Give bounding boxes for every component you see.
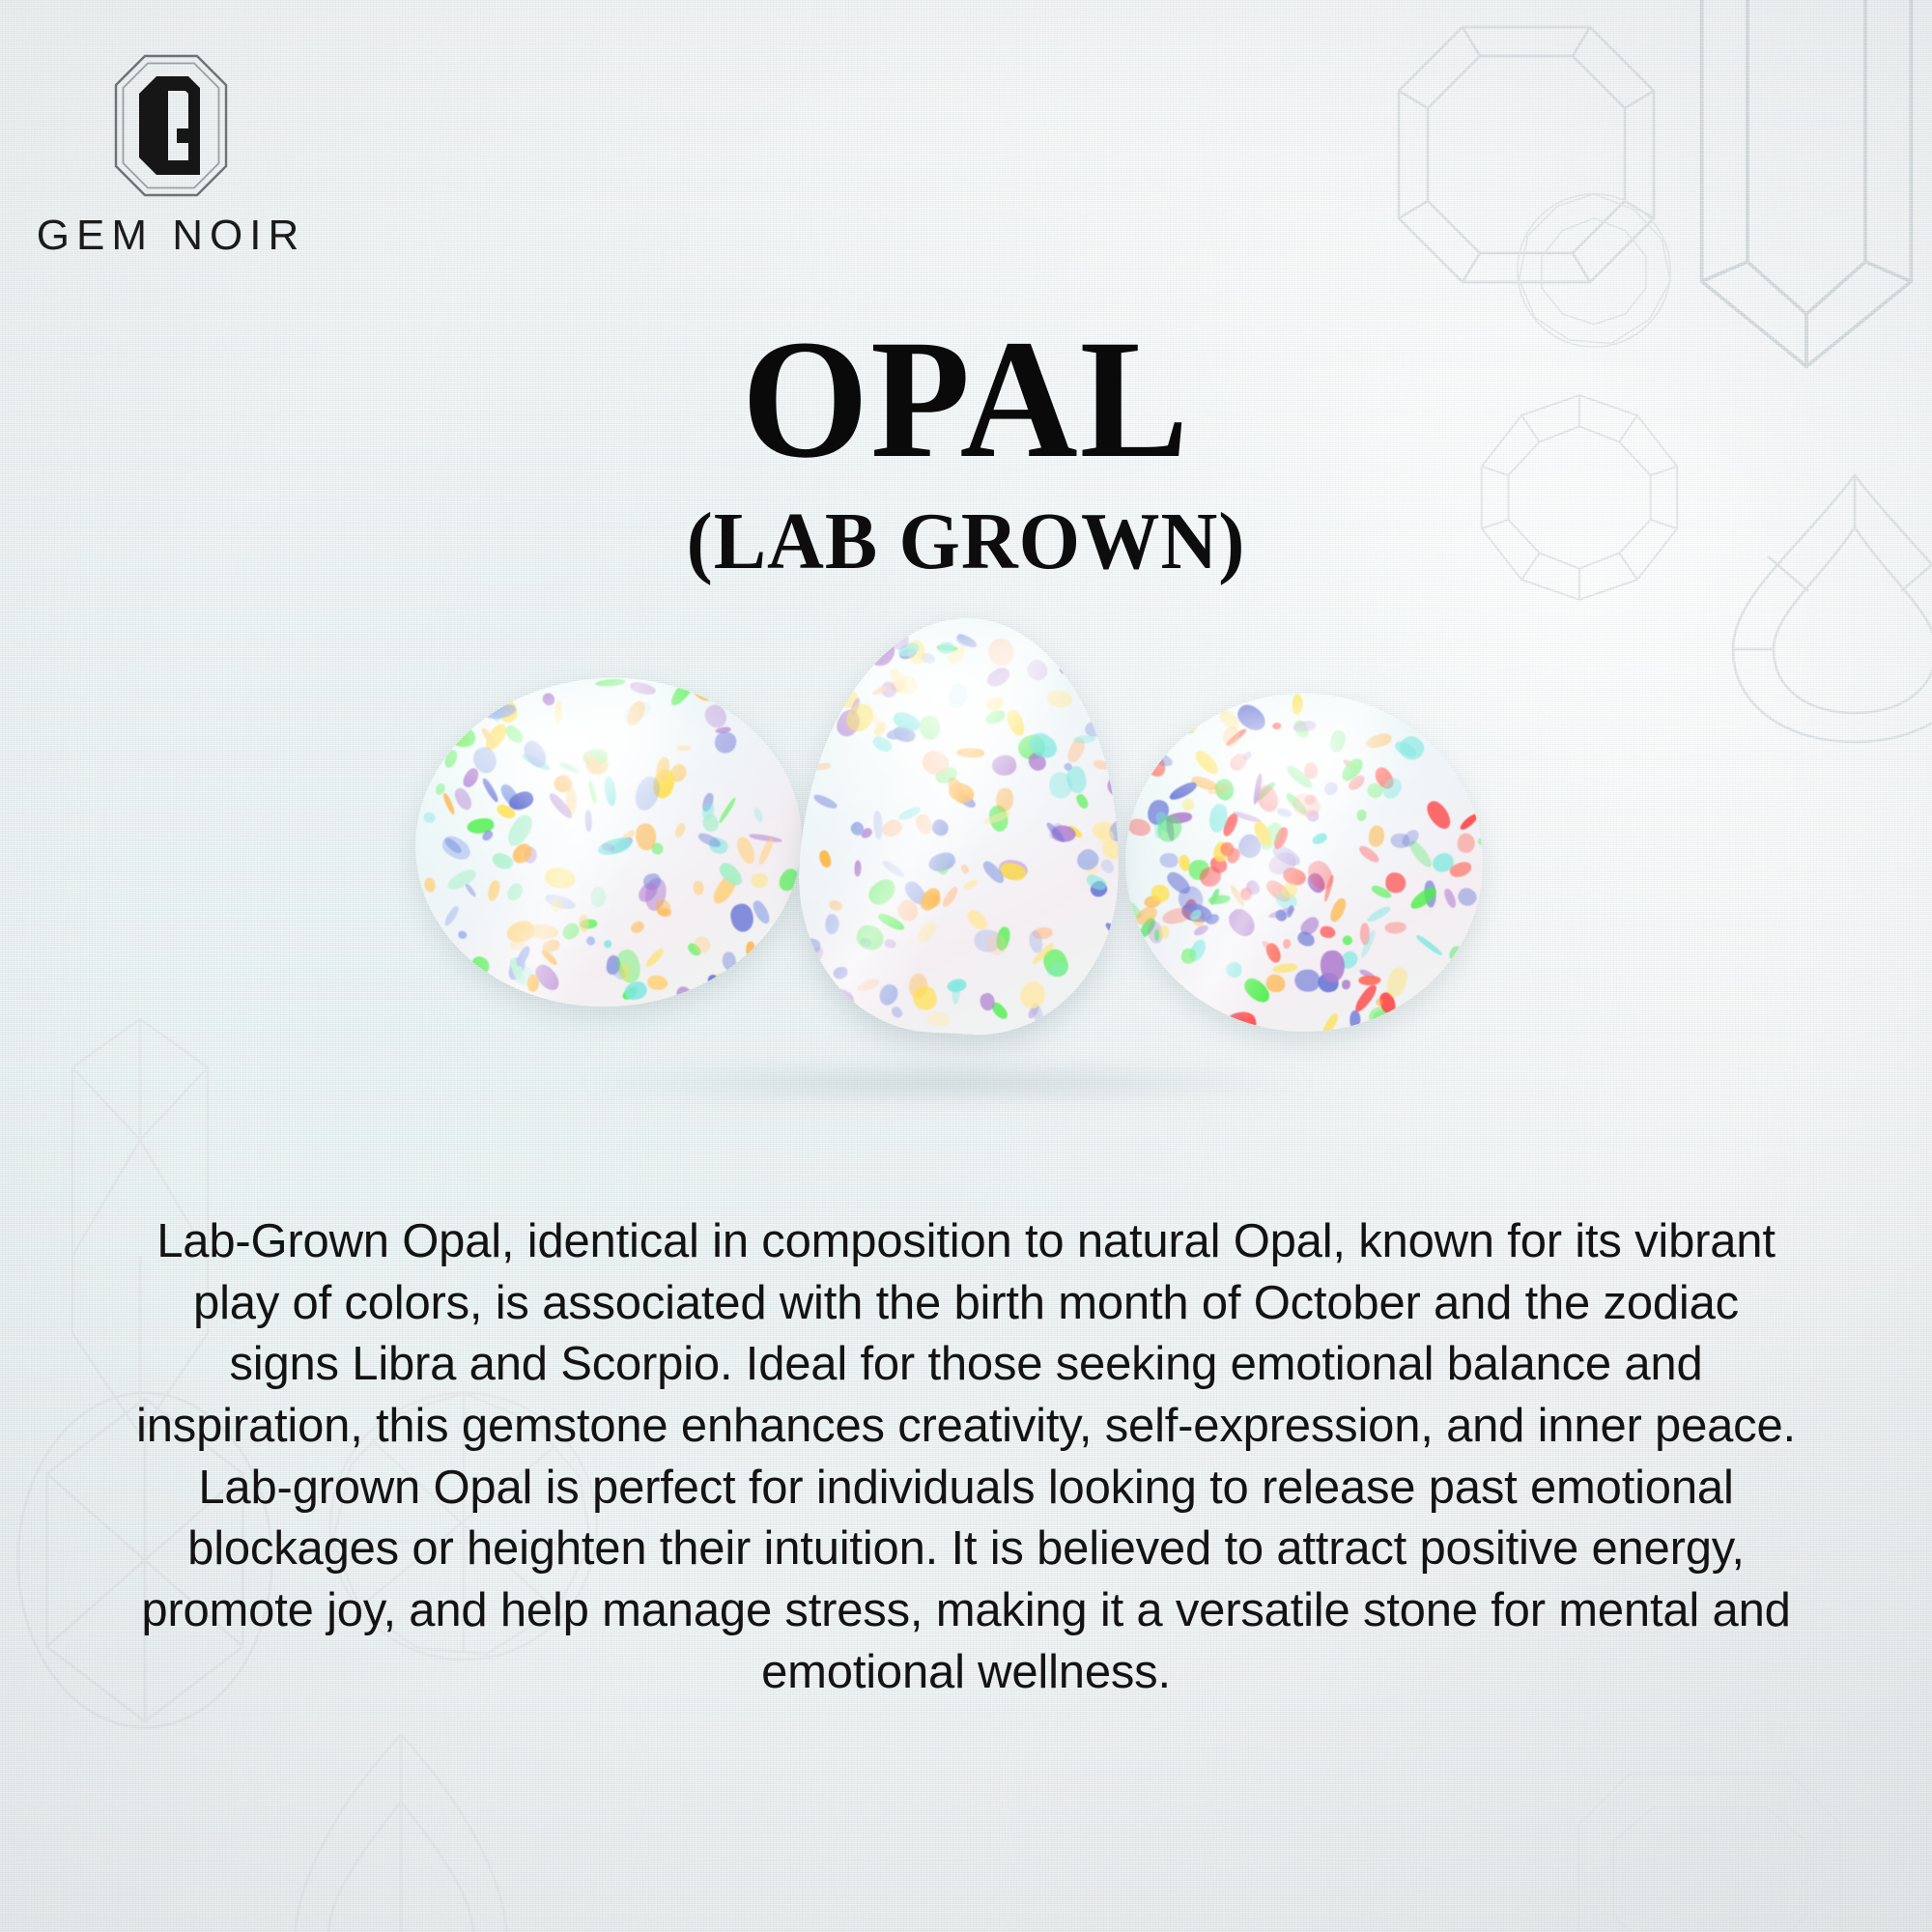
brand-logo[interactable]: GEM NOIR — [31, 53, 311, 260]
opal-sheen — [791, 611, 1131, 1042]
brand-name: GEM NOIR — [31, 212, 311, 260]
octagon-monogram-gn-icon — [113, 53, 229, 198]
title-block: OPAL (LAB GROWN) — [0, 319, 1932, 584]
page-title: OPAL — [39, 319, 1893, 482]
description-text: Lab-Grown Opal, identical in composition… — [135, 1211, 1797, 1704]
watermark-emerald-cut-bottom-icon — [1565, 1768, 1855, 1932]
watermark-marquise-gem-icon — [261, 1729, 541, 1932]
watermark-emerald-cut-octagon-icon — [1381, 10, 1671, 299]
poster-canvas: GEM NOIR OPAL (LAB GROWN) Lab-Grown Opal… — [0, 0, 1932, 1932]
opal-sheen — [1120, 688, 1489, 1038]
gemstone-group — [0, 618, 1932, 1159]
gemstone-shadow — [464, 1058, 1430, 1108]
opal-oval-left — [405, 665, 813, 1019]
opal-pear-center — [791, 611, 1131, 1042]
page-subtitle: (LAB GROWN) — [29, 499, 1903, 584]
opal-round-right — [1120, 688, 1489, 1038]
opal-sheen — [405, 665, 813, 1019]
